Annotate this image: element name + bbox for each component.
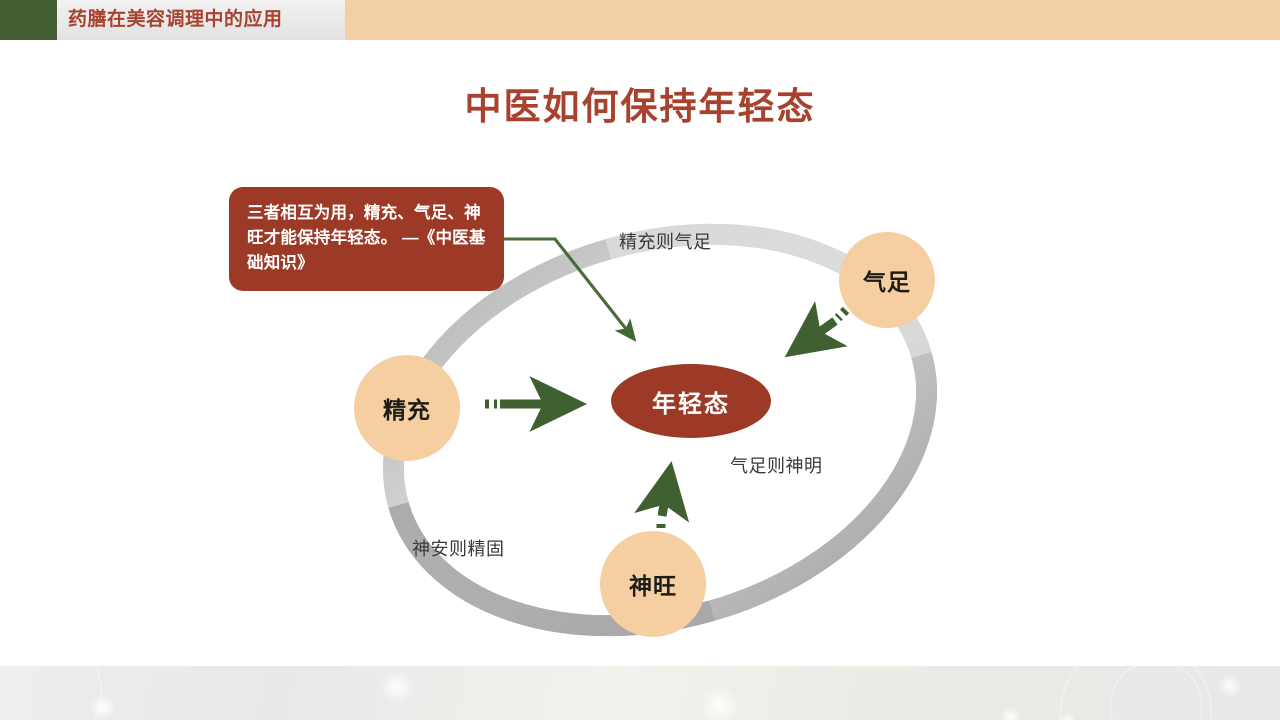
callout-box: 三者相互为用，精充、气足、神旺才能保持年轻态。 —《中医基础知识》 bbox=[229, 187, 504, 291]
arrow-shenwang-to-center bbox=[661, 470, 670, 528]
node-shenwang-label: 神旺 bbox=[629, 567, 677, 601]
sparkle-icon bbox=[1000, 706, 1022, 720]
sparkle-icon bbox=[1218, 674, 1242, 698]
edge-label-qizu-to-shenming: 气足则神明 bbox=[730, 452, 823, 478]
edge-label-shenan-to-jinggu: 神安则精固 bbox=[412, 535, 505, 561]
swirl-decoration bbox=[1110, 666, 1202, 720]
sparkle-icon bbox=[700, 686, 740, 720]
node-qizu-label: 气足 bbox=[863, 263, 911, 297]
swirl-decoration bbox=[0, 666, 102, 720]
sparkle-icon bbox=[380, 670, 414, 704]
node-jingchong-label: 精充 bbox=[383, 391, 431, 425]
node-shenwang[interactable]: 神旺 bbox=[600, 531, 706, 637]
center-node-younger-state[interactable]: 年轻态 bbox=[611, 364, 771, 438]
callout-text: 三者相互为用，精充、气足、神旺才能保持年轻态。 —《中医基础知识》 bbox=[247, 201, 486, 276]
arrow-qizu-to-center bbox=[792, 310, 846, 352]
node-jingchong[interactable]: 精充 bbox=[354, 355, 460, 461]
node-qizu[interactable]: 气足 bbox=[839, 232, 935, 328]
footer-decorative-band bbox=[0, 666, 1280, 720]
cycle-diagram: 三者相互为用，精充、气足、神旺才能保持年轻态。 —《中医基础知识》 精充 气足 … bbox=[0, 0, 1280, 720]
edge-label-jingchong-to-qizu: 精充则气足 bbox=[619, 228, 712, 254]
center-node-label: 年轻态 bbox=[652, 384, 730, 419]
